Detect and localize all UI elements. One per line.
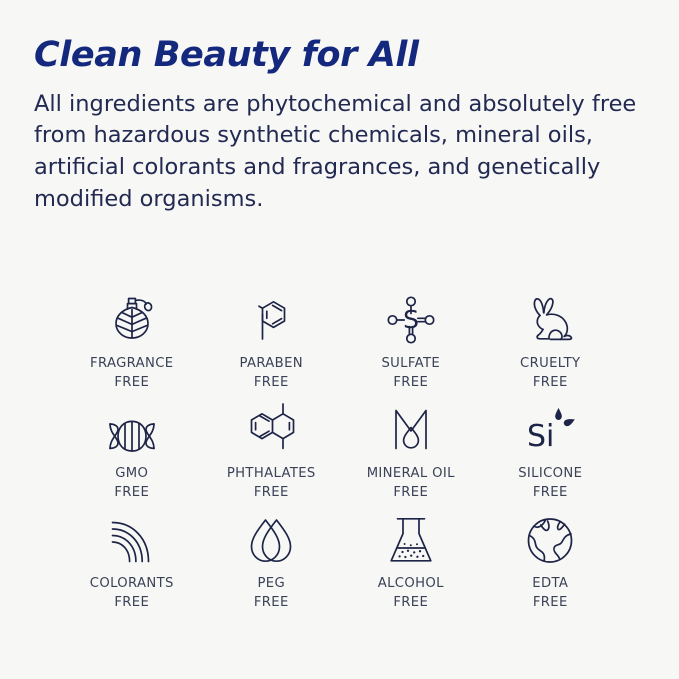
badge-qualifier: FREE — [393, 375, 428, 390]
badge-qualifier: FREE — [393, 485, 428, 500]
badge-label: COLORANTSFREE — [90, 575, 174, 612]
dna-helix-icon — [102, 398, 162, 458]
badge-title: MINERAL OIL — [367, 466, 455, 481]
sulfate-molecule-icon: S — [383, 288, 439, 348]
free-from-badge-grid: FRAGRANCEFREE PARABENFREE — [62, 288, 620, 618]
badge-qualifier: FREE — [114, 485, 149, 500]
badge-qualifier: FREE — [533, 375, 568, 390]
badge-colorants-free: COLORANTSFREE — [62, 508, 202, 618]
badge-label: SILICONEFREE — [518, 465, 582, 502]
badge-label: PHTHALATESFREE — [227, 465, 316, 502]
badge-title: FRAGRANCE — [90, 356, 173, 371]
badge-title: PARABEN — [240, 356, 303, 371]
badge-title: CRUELTY — [520, 356, 580, 371]
page-title: Clean Beauty for All — [34, 36, 645, 75]
page-subcopy: All ingredients are phytochemical and ab… — [34, 89, 645, 217]
m-droplet-icon — [387, 398, 435, 458]
badge-mineral-oil-free: MINERAL OILFREE — [341, 398, 481, 508]
badge-cruelty-free: CRUELTYFREE — [481, 288, 621, 398]
badge-phthalates-free: PHTHALATESFREE — [202, 398, 342, 508]
globe-icon — [523, 508, 577, 568]
badge-title: ALCOHOL — [378, 576, 444, 591]
badge-qualifier: FREE — [254, 595, 289, 610]
silicon-symbol-icon: Si — [521, 398, 579, 458]
rabbit-icon — [520, 288, 580, 348]
badge-qualifier: FREE — [533, 485, 568, 500]
naphthalene-rings-icon — [240, 398, 302, 458]
badge-title: PHTHALATES — [227, 466, 316, 481]
perfume-bottle-leaf-icon — [104, 288, 160, 348]
badge-qualifier: FREE — [114, 595, 149, 610]
header: Clean Beauty for All All ingredients are… — [0, 0, 679, 216]
badge-title: COLORANTS — [90, 576, 174, 591]
clean-beauty-infographic: Clean Beauty for All All ingredients are… — [0, 0, 679, 679]
svg-text:S: S — [403, 305, 419, 334]
badge-alcohol-free: ALCOHOLFREE — [341, 508, 481, 618]
badge-label: EDTAFREE — [532, 575, 568, 612]
badge-title: SILICONE — [518, 466, 582, 481]
badge-label: PARABENFREE — [240, 355, 303, 392]
badge-label: SULFATEFREE — [381, 355, 440, 392]
badge-title: SULFATE — [381, 356, 440, 371]
two-droplets-icon — [244, 508, 298, 568]
badge-silicone-free: Si SILICONEFREE — [481, 398, 621, 508]
badge-qualifier: FREE — [114, 375, 149, 390]
rainbow-arcs-icon — [104, 508, 160, 568]
badge-qualifier: FREE — [254, 375, 289, 390]
badge-label: GMOFREE — [114, 465, 149, 502]
badge-fragrance-free: FRAGRANCEFREE — [62, 288, 202, 398]
erlenmeyer-flask-icon — [384, 508, 438, 568]
badge-label: ALCOHOLFREE — [378, 575, 444, 612]
badge-qualifier: FREE — [393, 595, 428, 610]
badge-gmo-free: GMOFREE — [62, 398, 202, 508]
benzene-ring-icon — [243, 288, 299, 348]
badge-qualifier: FREE — [533, 595, 568, 610]
badge-sulfate-free: S SULFATEFREE — [341, 288, 481, 398]
badge-label: CRUELTYFREE — [520, 355, 580, 392]
badge-label: FRAGRANCEFREE — [90, 355, 173, 392]
badge-edta-free: EDTAFREE — [481, 508, 621, 618]
badge-paraben-free: PARABENFREE — [202, 288, 342, 398]
badge-title: EDTA — [532, 576, 568, 591]
badge-title: GMO — [115, 466, 148, 481]
badge-label: PEGFREE — [254, 575, 289, 612]
badge-label: MINERAL OILFREE — [367, 465, 455, 502]
svg-text:Si: Si — [527, 419, 554, 454]
badge-qualifier: FREE — [254, 485, 289, 500]
badge-title: PEG — [257, 576, 285, 591]
badge-peg-free: PEGFREE — [202, 508, 342, 618]
